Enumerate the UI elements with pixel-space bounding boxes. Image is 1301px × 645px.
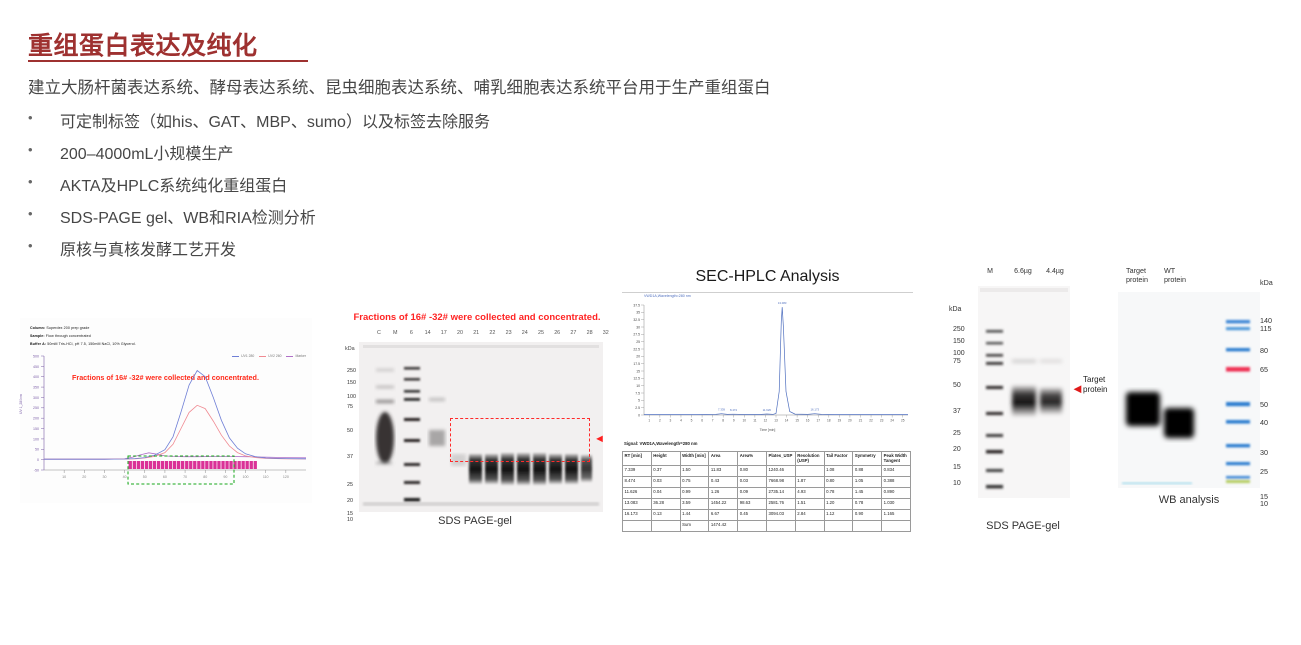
table-cell <box>738 520 767 531</box>
sds-loading-lane-m: M <box>987 268 993 275</box>
list-item-label: SDS-PAGE gel、WB和RIA检测分析 <box>60 204 316 228</box>
table-cell: 16.173 <box>623 509 652 520</box>
svg-text:37.5: 37.5 <box>633 303 640 307</box>
sds-fractions-lane-label: 21 <box>473 330 479 336</box>
wb-blot-image <box>1118 292 1260 488</box>
table-cell: 1.165 <box>882 509 911 520</box>
svg-text:15: 15 <box>795 419 799 423</box>
svg-text:8: 8 <box>722 419 724 423</box>
svg-text:200: 200 <box>33 417 39 421</box>
sds-fractions-marker: 100 <box>347 394 356 400</box>
wb-lane-wt-line2: protein <box>1164 275 1186 284</box>
svg-text:4: 4 <box>680 419 682 423</box>
svg-text:23: 23 <box>880 419 884 423</box>
table-header-row: RT [min]HeightWidth [min]AreaArea%Plates… <box>623 452 911 466</box>
sds-loading-lane-44: 4.4µg <box>1046 268 1064 275</box>
figure-sec-hplc: SEC-HPLC Analysis VWD1A,Wavelength=280 n… <box>620 268 915 530</box>
lead-paragraph: 建立大肠杆菌表达系统、酵母表达系统、昆虫细胞表达系统、哺乳细胞表达系统平台用于生… <box>28 74 771 98</box>
sec-hplc-results-table: Signal: VWD1A,Wavelength=280 nm RT [min]… <box>622 440 911 532</box>
sds-fractions-lane-label: 32 <box>603 330 609 336</box>
table-cell: 1474.42 <box>709 520 738 531</box>
bullet-marker: • <box>28 204 60 224</box>
sds-loading-caption: SDS PAGE-gel <box>963 520 1083 532</box>
svg-text:10: 10 <box>62 475 66 479</box>
signal-label: Signal: VWD1A,Wavelength=280 nm <box>623 440 911 452</box>
svg-text:20: 20 <box>82 475 86 479</box>
svg-text:17: 17 <box>816 419 820 423</box>
sds-loading-kda-label: kDa <box>949 306 961 313</box>
table-cell: 2735.14 <box>766 487 795 498</box>
svg-text:70: 70 <box>183 475 187 479</box>
svg-text:8.474: 8.474 <box>730 408 737 412</box>
table-cell: 3.59 <box>680 498 709 509</box>
figure-wb: Target protein WT protein <box>1108 262 1294 547</box>
sds-loading-marker: 10 <box>953 480 961 487</box>
svg-text:7: 7 <box>712 419 714 423</box>
sds-loading-marker: 15 <box>953 464 961 471</box>
sds-fractions-marker: 37 <box>347 454 353 460</box>
sds-loading-gel-image <box>978 286 1070 498</box>
sds-fractions-lane-label: 27 <box>570 330 576 336</box>
arrow-label-line2: protein <box>1083 385 1107 395</box>
table-cell: 11.626 <box>623 487 652 498</box>
wb-lane-target-line2: protein <box>1126 275 1148 284</box>
svg-text:7.339: 7.339 <box>718 408 725 412</box>
sds-fractions-lane-label: 6 <box>410 330 413 336</box>
table-cell: 0.03 <box>738 476 767 487</box>
table-cell: 1.05 <box>853 476 882 487</box>
table-cell: 0.78 <box>853 498 882 509</box>
sec-hplc-title: SEC-HPLC Analysis <box>620 268 915 286</box>
wb-lane-target: Target protein <box>1126 266 1148 284</box>
svg-text:100: 100 <box>243 475 249 479</box>
svg-text:25: 25 <box>901 419 905 423</box>
table-cell: 0.890 <box>882 487 911 498</box>
svg-text:16.173: 16.173 <box>811 408 820 412</box>
svg-text:27.5: 27.5 <box>633 333 640 337</box>
table-column-header: Plates_USP <box>766 452 795 466</box>
svg-text:25: 25 <box>636 340 640 344</box>
svg-text:5: 5 <box>638 399 640 403</box>
list-item-label: 可定制标签（如his、GAT、MBP、sumo）以及标签去除服务 <box>60 108 490 132</box>
wb-lane-wt-line1: WT <box>1164 266 1186 275</box>
svg-text:30: 30 <box>636 325 640 329</box>
svg-text:20: 20 <box>636 355 640 359</box>
svg-text:150: 150 <box>33 427 39 431</box>
svg-text:2.5: 2.5 <box>635 406 640 410</box>
sds-fractions-marker: 20 <box>347 498 353 504</box>
svg-text:18: 18 <box>827 419 831 423</box>
sds-fractions-caption: SDS PAGE-gel <box>345 515 605 527</box>
table-cell: 13.083 <box>623 498 652 509</box>
svg-text:12: 12 <box>764 419 768 423</box>
sec-hplc-chromatogram: VWD1A,Wavelength=280 nm 37.53532.53027.5… <box>622 292 913 433</box>
wb-marker: 50 <box>1260 400 1268 409</box>
table-cell: 0.75 <box>680 476 709 487</box>
svg-text:10: 10 <box>743 419 747 423</box>
wb-marker: 40 <box>1260 418 1268 427</box>
svg-text:16: 16 <box>806 419 810 423</box>
table-cell <box>623 520 652 531</box>
sds-fractions-marker: 150 <box>347 380 356 386</box>
table-column-header: Resolution (USP) <box>795 452 824 466</box>
svg-text:17.5: 17.5 <box>633 362 640 366</box>
svg-text:14: 14 <box>785 419 789 423</box>
bullet-marker: • <box>28 172 60 192</box>
table-column-header: Area% <box>738 452 767 466</box>
table-cell: 1240.46 <box>766 465 795 476</box>
table-cell: 1.87 <box>795 476 824 487</box>
svg-text:100: 100 <box>33 437 39 441</box>
table-cell: 0.80 <box>738 465 767 476</box>
table-row: 13.08336.283.591454.2298.632581.761.511.… <box>623 498 911 509</box>
figure-sds-loading: M 6.6µg 4.4µg <box>945 262 1105 542</box>
table-cell: 1.45 <box>853 487 882 498</box>
table-cell: 1.51 <box>795 498 824 509</box>
sds-fractions-marker: 250 <box>347 368 356 374</box>
svg-text:21: 21 <box>859 419 863 423</box>
table-signal-row: Signal: VWD1A,Wavelength=280 nm <box>623 440 911 452</box>
sds-fractions-lane-label: 25 <box>538 330 544 336</box>
table-cell <box>882 520 911 531</box>
svg-text:5: 5 <box>691 419 693 423</box>
table-cell: 0.99 <box>680 487 709 498</box>
table-cell <box>766 520 795 531</box>
table-cell: 1.44 <box>680 509 709 520</box>
list-item: • 可定制标签（如his、GAT、MBP、sumo）以及标签去除服务 <box>28 108 728 140</box>
table-cell: 7.339 <box>623 465 652 476</box>
svg-text:19: 19 <box>838 419 842 423</box>
sds-loading-marker: 250 <box>953 326 965 333</box>
table-cell: 0.78 <box>824 487 853 498</box>
list-item: • SDS-PAGE gel、WB和RIA检测分析 <box>28 204 728 236</box>
sec-hplc-trace-label: VWD1A,Wavelength=280 nm <box>644 294 691 298</box>
svg-text:13.083: 13.083 <box>778 301 787 305</box>
list-item: • AKTA及HPLC系统纯化重组蛋白 <box>28 172 728 204</box>
svg-text:0: 0 <box>638 413 640 417</box>
sds-fractions-lane-label: 17 <box>441 330 447 336</box>
sds-loading-marker: 37 <box>953 408 961 415</box>
svg-text:500: 500 <box>33 354 39 358</box>
sds-fractions-lane-label: 14 <box>425 330 431 336</box>
svg-text:22.5: 22.5 <box>633 347 640 351</box>
table-cell: 1.26 <box>709 487 738 498</box>
svg-text:32.5: 32.5 <box>633 318 640 322</box>
svg-text:9: 9 <box>733 419 735 423</box>
svg-text:12.5: 12.5 <box>633 377 640 381</box>
list-item-label: 200–4000mL小规模生产 <box>60 140 233 164</box>
table-row: 11.6260.040.991.260.092735.144.930.781.4… <box>623 487 911 498</box>
sds-loading-lane-66: 6.6µg <box>1014 268 1032 275</box>
list-item: • 200–4000mL小规模生产 <box>28 140 728 172</box>
table-column-header: Tail Factor <box>824 452 853 466</box>
table-cell: 0.834 <box>882 465 911 476</box>
sds-fractions-lane-labels: CM6141720212223242526272832 <box>369 330 601 340</box>
sds-fractions-lane-label: 26 <box>554 330 560 336</box>
table-row: Sum1474.42 <box>623 520 911 531</box>
sds-fractions-header: Fractions of 16# -32# were collected and… <box>351 312 603 323</box>
sds-fractions-lane-label: 28 <box>587 330 593 336</box>
svg-text:450: 450 <box>33 365 39 369</box>
svg-text:80: 80 <box>203 475 207 479</box>
table-cell: 0.43 <box>709 476 738 487</box>
sds-fractions-lane-label: 23 <box>506 330 512 336</box>
table-cell: 1.12 <box>824 509 853 520</box>
svg-text:400: 400 <box>33 375 39 379</box>
table-cell: 1.030 <box>882 498 911 509</box>
arrow-label-line1: Target <box>1083 375 1107 385</box>
table-cell: 0.13 <box>651 509 680 520</box>
list-item-label: AKTA及HPLC系统纯化重组蛋白 <box>60 172 287 196</box>
table-cell: 1.50 <box>680 465 709 476</box>
wb-lane-wt: WT protein <box>1164 266 1186 284</box>
sds-loading-arrow-label: Target protein <box>1083 375 1107 395</box>
sds-fractions-arrow-icon: ◄ <box>594 434 605 445</box>
sds-loading-marker: 50 <box>953 382 961 389</box>
table-cell: 2.84 <box>795 509 824 520</box>
table-cell: 2581.76 <box>766 498 795 509</box>
wb-marker: 115 <box>1260 324 1271 333</box>
bullet-marker: • <box>28 108 60 128</box>
table-cell: 6.67 <box>709 509 738 520</box>
wb-marker: 25 <box>1260 467 1268 476</box>
chromatogram-plot: -50050100150200250300350400450500 102030… <box>20 318 312 503</box>
table-row: 7.3390.371.5011.830.801240.461.080.880.8… <box>623 465 911 476</box>
svg-text:-50: -50 <box>34 468 39 472</box>
table-cell: 98.63 <box>738 498 767 509</box>
sec-hplc-x-axis-label: Time [min] <box>622 428 913 432</box>
svg-text:6: 6 <box>701 419 703 423</box>
sds-fractions-marker: 75 <box>347 404 353 410</box>
table-cell: 0.03 <box>651 476 680 487</box>
table-cell: 0.80 <box>824 476 853 487</box>
svg-text:20: 20 <box>848 419 852 423</box>
sds-loading-marker: 100 <box>953 350 965 357</box>
table-cell: 0.09 <box>738 487 767 498</box>
svg-text:300: 300 <box>33 396 39 400</box>
wb-kda-label: kDa <box>1260 278 1273 287</box>
wb-caption: WB analysis <box>1118 494 1260 506</box>
svg-text:110: 110 <box>263 475 269 479</box>
title-underline <box>28 60 308 62</box>
sds-fractions-lane-label: 24 <box>522 330 528 336</box>
table-row: 8.4740.030.750.430.037668.981.870.801.05… <box>623 476 911 487</box>
svg-text:3: 3 <box>670 419 672 423</box>
table-cell: 4.93 <box>795 487 824 498</box>
sds-fractions-selection-box <box>450 418 590 462</box>
table-cell <box>795 465 824 476</box>
wb-marker: 10 <box>1260 499 1268 508</box>
wb-marker: 65 <box>1260 365 1268 374</box>
table-cell <box>651 520 680 531</box>
svg-text:50: 50 <box>143 475 147 479</box>
svg-text:90: 90 <box>223 475 227 479</box>
table-cell: 8.474 <box>623 476 652 487</box>
svg-text:250: 250 <box>33 406 39 410</box>
table-column-header: Symmetry <box>853 452 882 466</box>
sds-fractions-lane-label: 20 <box>457 330 463 336</box>
table-cell: 36.28 <box>651 498 680 509</box>
svg-text:35: 35 <box>636 311 640 315</box>
table-column-header: Area <box>709 452 738 466</box>
svg-text:30: 30 <box>102 475 106 479</box>
table-column-header: Width [min] <box>680 452 709 466</box>
table-column-header: RT [min] <box>623 452 652 466</box>
svg-text:120: 120 <box>283 475 289 479</box>
bullet-list: • 可定制标签（如his、GAT、MBP、sumo）以及标签去除服务 • 200… <box>28 108 728 268</box>
sds-loading-marker: 20 <box>953 446 961 453</box>
bullet-marker: • <box>28 236 60 256</box>
svg-text:60: 60 <box>163 475 167 479</box>
list-item-label: 原核与真核发酵工艺开发 <box>60 236 236 260</box>
svg-text:50: 50 <box>35 448 39 452</box>
svg-text:350: 350 <box>33 385 39 389</box>
svg-text:40: 40 <box>123 475 127 479</box>
table-cell <box>824 520 853 531</box>
table-cell <box>853 520 882 531</box>
sds-fractions-kda-label: kDa <box>345 346 355 352</box>
svg-text:11: 11 <box>753 419 757 423</box>
table-cell: 11.83 <box>709 465 738 476</box>
table-cell: 0.88 <box>853 465 882 476</box>
svg-text:1: 1 <box>648 419 650 423</box>
table-row: 16.1730.131.446.670.453094.032.841.120.9… <box>623 509 911 520</box>
table-cell: 0.04 <box>651 487 680 498</box>
page-title: 重组蛋白表达及纯化 <box>28 26 258 62</box>
sds-loading-marker: 150 <box>953 338 965 345</box>
sds-fractions-marker: 25 <box>347 482 353 488</box>
sds-loading-arrow-icon: ◄ <box>1071 382 1084 395</box>
table-column-header: Peak Width Tangent <box>882 452 911 466</box>
table-cell: 0.90 <box>853 509 882 520</box>
sds-fractions-lane-label: M <box>393 330 398 336</box>
table-cell: 1.20 <box>824 498 853 509</box>
table-column-header: Height <box>651 452 680 466</box>
sds-fractions-lane-label: 22 <box>489 330 495 336</box>
svg-text:15: 15 <box>636 369 640 373</box>
wb-marker: 30 <box>1260 448 1268 457</box>
bullet-marker: • <box>28 140 60 160</box>
table-cell: 0.45 <box>738 509 767 520</box>
svg-text:2: 2 <box>659 419 661 423</box>
table-cell: 1454.22 <box>709 498 738 509</box>
wb-marker: 80 <box>1260 346 1268 355</box>
table-cell: Sum <box>680 520 709 531</box>
svg-text:11.626: 11.626 <box>763 408 772 412</box>
sds-fractions-lane-label: C <box>377 330 381 336</box>
table-cell: 0.37 <box>651 465 680 476</box>
svg-text:7.5: 7.5 <box>635 391 640 395</box>
sds-loading-marker: 75 <box>953 358 961 365</box>
figure-chromatogram: Column: Superdex 200 prep grade Sample: … <box>20 318 312 503</box>
svg-text:0: 0 <box>37 458 39 462</box>
sds-loading-marker: 25 <box>953 430 961 437</box>
table-cell: 7668.98 <box>766 476 795 487</box>
table-cell: 1.08 <box>824 465 853 476</box>
table-cell <box>795 520 824 531</box>
sds-fractions-marker: 50 <box>347 428 353 434</box>
svg-text:22: 22 <box>869 419 873 423</box>
list-item: • 原核与真核发酵工艺开发 <box>28 236 728 268</box>
wb-lane-target-line1: Target <box>1126 266 1148 275</box>
svg-text:13: 13 <box>774 419 778 423</box>
svg-text:10: 10 <box>636 384 640 388</box>
figure-sds-fractions: Fractions of 16# -32# were collected and… <box>345 312 605 527</box>
svg-text:24: 24 <box>890 419 894 423</box>
table-cell: 3094.03 <box>766 509 795 520</box>
table-cell: 0.388 <box>882 476 911 487</box>
